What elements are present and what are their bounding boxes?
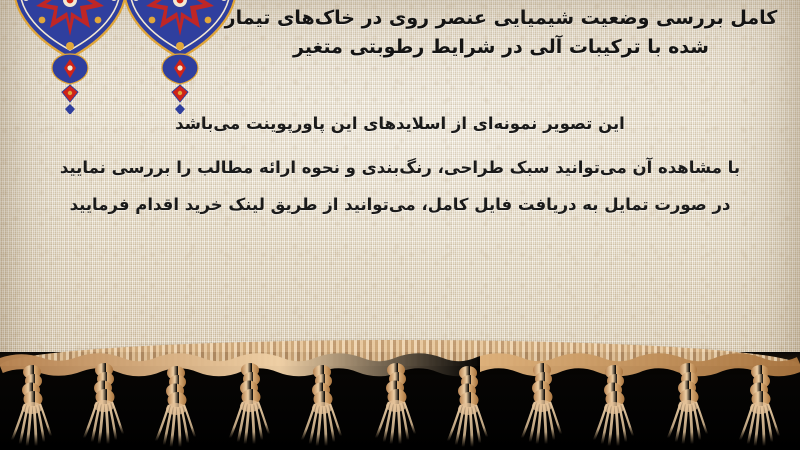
slide-title: کامل بررسی وضعیت شیمیایی عنصر روی در خاک… [0,4,800,63]
title-line-2: شده با ترکیبات آلی در شرایط رطوبتی متغیر [210,33,792,62]
carpet-fringe [0,352,800,450]
slide-body: این تصویر نمونه‌ای از اسلایدهای این پاور… [0,112,800,217]
body-line-2: با مشاهده آن می‌توانید سبک طراحی، رنگ‌بن… [18,156,782,180]
body-line-3: در صورت تمایل به دریافت فایل کامل، می‌تو… [18,193,782,217]
title-line-1: کامل بررسی وضعیت شیمیایی عنصر روی در خاک… [210,4,792,33]
body-line-1: این تصویر نمونه‌ای از اسلایدهای این پاور… [18,112,782,136]
slide-canvas: کامل بررسی وضعیت شیمیایی عنصر روی در خاک… [0,0,800,450]
